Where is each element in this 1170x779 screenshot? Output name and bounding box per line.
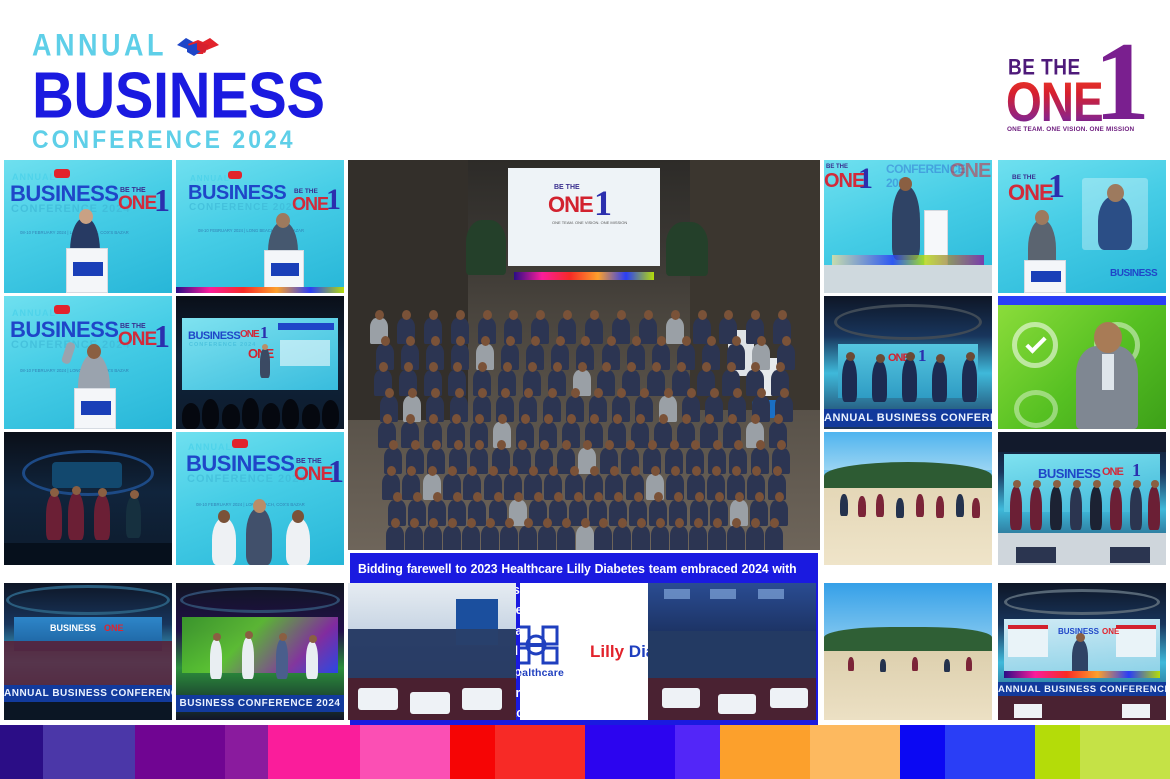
mini-conference-text: CONFERENCE 2024 — [189, 202, 299, 213]
group-photo-person — [670, 526, 688, 550]
photo-stage-presenter-wide: BUSINESS ONE ANNUAL BUSINESS CONFERENCE … — [998, 583, 1166, 720]
group-photo-person-head — [590, 310, 599, 320]
healthcare-h-icon — [520, 625, 559, 665]
group-photo-person-head — [782, 336, 791, 346]
mini-date-text: 08-10 FEBRUARY 2024 | LONG BEACH, COX'S … — [20, 368, 129, 373]
group-photo-person-head — [553, 362, 562, 372]
group-photo-person-head — [456, 310, 465, 320]
group-photo-person-head — [391, 518, 400, 528]
group-photo-person — [613, 526, 631, 550]
group-photo-person — [746, 526, 764, 550]
mini-one-text-2: ONE — [950, 160, 990, 183]
color-swatch-orange — [720, 725, 810, 779]
group-photo-person — [639, 318, 657, 344]
group-photo-person-head — [402, 310, 411, 320]
group-photo-person-head — [727, 362, 736, 372]
group-photo-person-head — [562, 518, 571, 528]
group-photo-person-head — [383, 414, 392, 424]
mini-handshake-icon — [232, 439, 248, 448]
group-photo-person-head — [574, 492, 583, 502]
photo-stage-group-recognition: BUSINESS ONE 1 — [998, 432, 1166, 565]
group-photo-person-head — [410, 518, 419, 528]
group-photo-person-head — [780, 388, 789, 398]
group-photo-person-head — [682, 336, 691, 346]
group-photo-person-head — [454, 440, 463, 450]
poster-header: ANNUAL BUSINESS CONFERENCE 2024 1 BE THE… — [0, 0, 1170, 155]
group-photo-person — [666, 318, 684, 344]
group-photo-person-head — [735, 492, 744, 502]
photo-audience-tables-1 — [348, 583, 516, 720]
group-photo-person-head — [494, 492, 503, 502]
color-swatch-yellow-green — [1035, 725, 1080, 779]
group-photo-person — [651, 526, 669, 550]
mini-conference-text: CONFERENCE 2024 — [189, 342, 256, 348]
group-photo-person-head — [636, 414, 645, 424]
group-photo-person-head — [671, 310, 680, 320]
group-photo-person — [500, 526, 518, 550]
group-photo-person-head — [381, 336, 390, 346]
group-photo-person-head — [570, 466, 579, 476]
group-photo-person-head — [617, 310, 626, 320]
group-banner: ANNUAL BUSINESS CONFERENCE 2024 — [4, 685, 172, 702]
photo-speaker-raised-hand: ANNUAL BUSINESS CONFERENCE 2024 BE THE O… — [4, 296, 172, 429]
group-photo-person-head — [387, 466, 396, 476]
color-swatch-pure-red — [450, 725, 495, 779]
group-photo-person-head — [590, 466, 599, 476]
mini-one-numeral: 1 — [1132, 460, 1141, 481]
logo-conference-text: CONFERENCE 2024 — [32, 127, 362, 152]
color-swatch-light-lime — [1080, 725, 1170, 779]
group-photo-person-head — [605, 440, 614, 450]
group-photo-person-head — [698, 310, 707, 320]
photo-speaker-green-slide — [998, 296, 1166, 429]
group-photo-person-head — [728, 414, 737, 424]
photo-beach-sports — [824, 583, 992, 720]
group-photo-person-head — [670, 440, 679, 450]
group-photo-person-head — [581, 518, 590, 528]
group-photo-person-head — [613, 414, 622, 424]
mini-one-text: ONE — [118, 329, 156, 351]
group-photo-person-head — [578, 362, 587, 372]
group-photo-person — [386, 526, 404, 550]
group-photo-person-head — [544, 414, 553, 424]
group-photo-person-head — [562, 440, 571, 450]
group-photo-person-head — [528, 362, 537, 372]
mini-handshake-icon — [54, 169, 70, 178]
group-photo-person-head — [509, 466, 518, 476]
mini-one-numeral: 1 — [1048, 168, 1065, 206]
photo-panel-discussion: ANNUAL BUSINESS CONFERENCE 2024 BE THE O… — [176, 432, 344, 565]
group-photo-person-head — [404, 362, 413, 372]
photo-speaker-podium-2: ANNUAL BUSINESS CONFERENCE 2024 BE THE O… — [176, 160, 344, 293]
color-swatch-hot-pink — [268, 725, 360, 779]
group-photo-person-head — [707, 336, 716, 346]
mini-one-numeral: 1 — [154, 318, 170, 355]
group-photo-person-head — [429, 310, 438, 320]
color-swatch-royal-blue — [945, 725, 1035, 779]
color-swatch-violet-blue — [675, 725, 720, 779]
photo-audience-presentation: BUSINESS CONFERENCE 2024 ONE 1 ONE — [176, 296, 344, 429]
group-photo-person-head — [524, 518, 533, 528]
photo-group-team: BE THE ONE 1 ONE TEAM. ONE VISION. ONE M… — [348, 160, 820, 550]
speaker-head — [87, 344, 101, 359]
group-photo-person-head — [475, 414, 484, 424]
group-photo-person-head — [534, 492, 543, 502]
group-photo-person-head — [712, 466, 721, 476]
group-photo-person-head — [478, 388, 487, 398]
color-swatch-deep-indigo — [0, 725, 43, 779]
mini-one-text: ONE — [240, 329, 259, 340]
group-photo-person-head — [486, 518, 495, 528]
group-photo-person-head — [411, 440, 420, 450]
mini-conference-text: CONFERENCE 2024 — [11, 203, 131, 215]
group-photo-person-head — [695, 492, 704, 502]
podium — [66, 248, 108, 293]
group-photo-person-head — [543, 518, 552, 528]
annual-business-conference-logo: ANNUAL BUSINESS CONFERENCE 2024 — [32, 34, 362, 150]
group-photo-person-head — [652, 362, 661, 372]
mini-business-text: BUSINESS — [1038, 466, 1100, 481]
group-photo-person-head — [590, 414, 599, 424]
mini-handshake-icon — [54, 305, 70, 314]
one-word-text: ONE — [1006, 74, 1103, 129]
group-photo-person-head — [702, 362, 711, 372]
group-photo-person-head — [657, 336, 666, 346]
group-photo-person-head — [773, 466, 782, 476]
group-photo-person-head — [385, 388, 394, 398]
group-photo-person-head — [379, 362, 388, 372]
audience-silhouettes — [176, 387, 344, 429]
mini-one-text: ONE — [294, 464, 332, 486]
group-photo-person-head — [548, 388, 557, 398]
podium — [74, 388, 116, 429]
color-swatch-red-orange — [495, 725, 585, 779]
group-photo-person-head — [540, 440, 549, 450]
mini-one-numeral: 1 — [154, 182, 170, 219]
group-photo-person-head — [521, 414, 530, 424]
mini-business-text: BUSINESS — [188, 330, 240, 342]
group-photo-person — [647, 370, 665, 396]
photo-speaker-podium-1: ANNUAL BUSINESS CONFERENCE 2024 BE THE O… — [4, 160, 172, 293]
group-photo-person-head — [705, 414, 714, 424]
group-photo-person-head — [406, 414, 415, 424]
group-photo-person-head — [428, 466, 437, 476]
photo-audience-tables-2 — [648, 583, 816, 720]
poster-canvas: ANNUAL BUSINESS CONFERENCE 2024 1 BE THE… — [0, 0, 1170, 779]
group-photo-person — [708, 526, 726, 550]
group-photo-person-head — [757, 336, 766, 346]
podium — [1024, 260, 1066, 293]
group-photo-person-head — [406, 336, 415, 346]
group-photo-person-head — [677, 362, 686, 372]
color-swatch-light-orange — [810, 725, 900, 779]
group-photo-person-head — [483, 310, 492, 320]
group-photo-person-head — [452, 414, 461, 424]
group-photo-person — [462, 526, 480, 550]
group-photo-person-head — [393, 492, 402, 502]
mini-one-numeral: 1 — [260, 323, 269, 343]
mini-handshake-icon — [228, 171, 242, 179]
group-photo-person-head — [644, 310, 653, 320]
group-photo-person-head — [687, 388, 696, 398]
color-swatch-blue-violet — [585, 725, 675, 779]
group-photo-person-head — [648, 440, 657, 450]
group-photo-person-head — [455, 388, 464, 398]
photo-speaker-award: BE THE ONE 1 BUSINESS — [998, 160, 1166, 293]
healthcare-label: Healthcare — [520, 667, 564, 679]
photo-beach-activity — [824, 432, 992, 565]
speaker-head — [276, 213, 290, 228]
group-photo-person — [576, 526, 594, 550]
mini-one-text: ONE — [1008, 180, 1053, 206]
group-photo-person-head — [732, 336, 741, 346]
group-photo-person-head — [429, 414, 438, 424]
color-swatch-light-pink — [360, 725, 450, 779]
mini-conference-text: CONFERENCE 2024 — [187, 473, 307, 485]
group-photo-person-head — [467, 518, 476, 528]
be-the-one-logo: 1 BE THE ONE ONE TEAM. ONE VISION. ONE M… — [1000, 30, 1146, 142]
group-photo-person-head — [571, 388, 580, 398]
one-tagline: ONE TEAM. ONE VISION. ONE MISSION — [1007, 126, 1134, 133]
group-photo-person-head — [651, 466, 660, 476]
logo-annual-text: ANNUAL — [32, 30, 167, 61]
group-photo-person-head — [375, 310, 384, 320]
speaker-head — [79, 209, 93, 224]
group-photo-person — [443, 526, 461, 550]
group-photo-person-head — [594, 388, 603, 398]
group-photo-person-head — [448, 518, 457, 528]
photo-team-maroon-group: BUSINESS ONE ANNUAL BUSINESS CONFERENCE … — [4, 583, 172, 720]
photo-mosaic: ANNUAL BUSINESS CONFERENCE 2024 BE THE O… — [0, 155, 1170, 725]
group-photo-person-head — [692, 466, 701, 476]
color-swatch-deep-purple — [135, 725, 225, 779]
group-photo-person-head — [751, 414, 760, 424]
group-photo-person-head — [682, 414, 691, 424]
group-photo-person-head — [757, 388, 766, 398]
mini-date-text: 08-10 FEBRUARY 2024 | LONG BEACH, COX'S … — [196, 502, 305, 507]
group-photo-person-head — [755, 492, 764, 502]
group-photo-person — [424, 526, 442, 550]
photo-team-uniform-stage: ONE 1 ANNUAL BUSINESS CONFERENCE 2024 — [824, 296, 992, 429]
group-photo-person-head — [756, 440, 765, 450]
photo-band-performance — [4, 432, 172, 565]
group-photo-person-head — [429, 518, 438, 528]
group-photo-person-head — [514, 492, 523, 502]
mini-one-numeral: 1 — [858, 162, 873, 196]
group-photo-person — [405, 526, 423, 550]
group-photo-person — [557, 526, 575, 550]
group-photo-person-head — [594, 492, 603, 502]
group-photo-person — [727, 526, 745, 550]
bottom-color-bar — [0, 725, 1170, 779]
stage-banner: ANNUAL BUSINESS CONFERENCE 2024 — [824, 409, 992, 427]
color-swatch-purple-magenta — [225, 725, 268, 779]
group-photo-person — [632, 526, 650, 550]
color-swatch-pure-blue — [900, 725, 945, 779]
mini-one-text: ONE — [292, 194, 328, 215]
mini-one-text: ONE — [1102, 466, 1123, 478]
group-photo-person-head — [607, 336, 616, 346]
group-photo-person — [594, 526, 612, 550]
group-photo-person — [765, 526, 783, 550]
group-photo-person-head — [489, 466, 498, 476]
group-photo-person — [481, 526, 499, 550]
group-photo-person-head — [770, 518, 779, 528]
group-photo-person — [538, 526, 556, 550]
group-photo-person-head — [498, 414, 507, 424]
group-photo-person-head — [659, 414, 668, 424]
lilly-word: Lilly — [590, 642, 624, 661]
mini-one-numeral: 1 — [328, 453, 344, 490]
group-photo-person-head — [775, 492, 784, 502]
group-photo-person-head — [774, 414, 783, 424]
group-photo-person-head — [448, 466, 457, 476]
group-photo-person-head — [389, 440, 398, 450]
photo-stage-dance: BUSINESS CONFERENCE 2024 — [176, 583, 344, 720]
logo-business-text: BUSINESS — [32, 66, 362, 126]
mini-business-text: BUSINESS — [1110, 268, 1157, 279]
group-photo-person-head — [554, 492, 563, 502]
group-photo-person-head — [567, 414, 576, 424]
group-photo-person-head — [715, 492, 724, 502]
group-photo-person-head — [497, 440, 506, 450]
group-photo-person-head — [632, 336, 641, 346]
photo-speaker-podium-3: BE THE ONE 1 CONFERENCE 2024 ONE — [824, 160, 992, 293]
group-photo-person-head — [664, 388, 673, 398]
group-photo-person-head — [505, 518, 514, 528]
group-photo-person — [519, 526, 537, 550]
group-photo-person-head — [429, 362, 438, 372]
healthcare-logo: Healthcare — [520, 625, 564, 679]
mini-one-numeral: 1 — [326, 183, 341, 217]
group-photo-person-head — [713, 440, 722, 450]
group-photo-person-head — [631, 466, 640, 476]
mini-one-numeral: 1 — [918, 346, 927, 366]
group-photo-person — [689, 526, 707, 550]
color-swatch-slate-violet — [43, 725, 135, 779]
stage-dance-banner: BUSINESS CONFERENCE 2024 — [176, 695, 344, 712]
mini-one-text: ONE — [118, 193, 156, 215]
